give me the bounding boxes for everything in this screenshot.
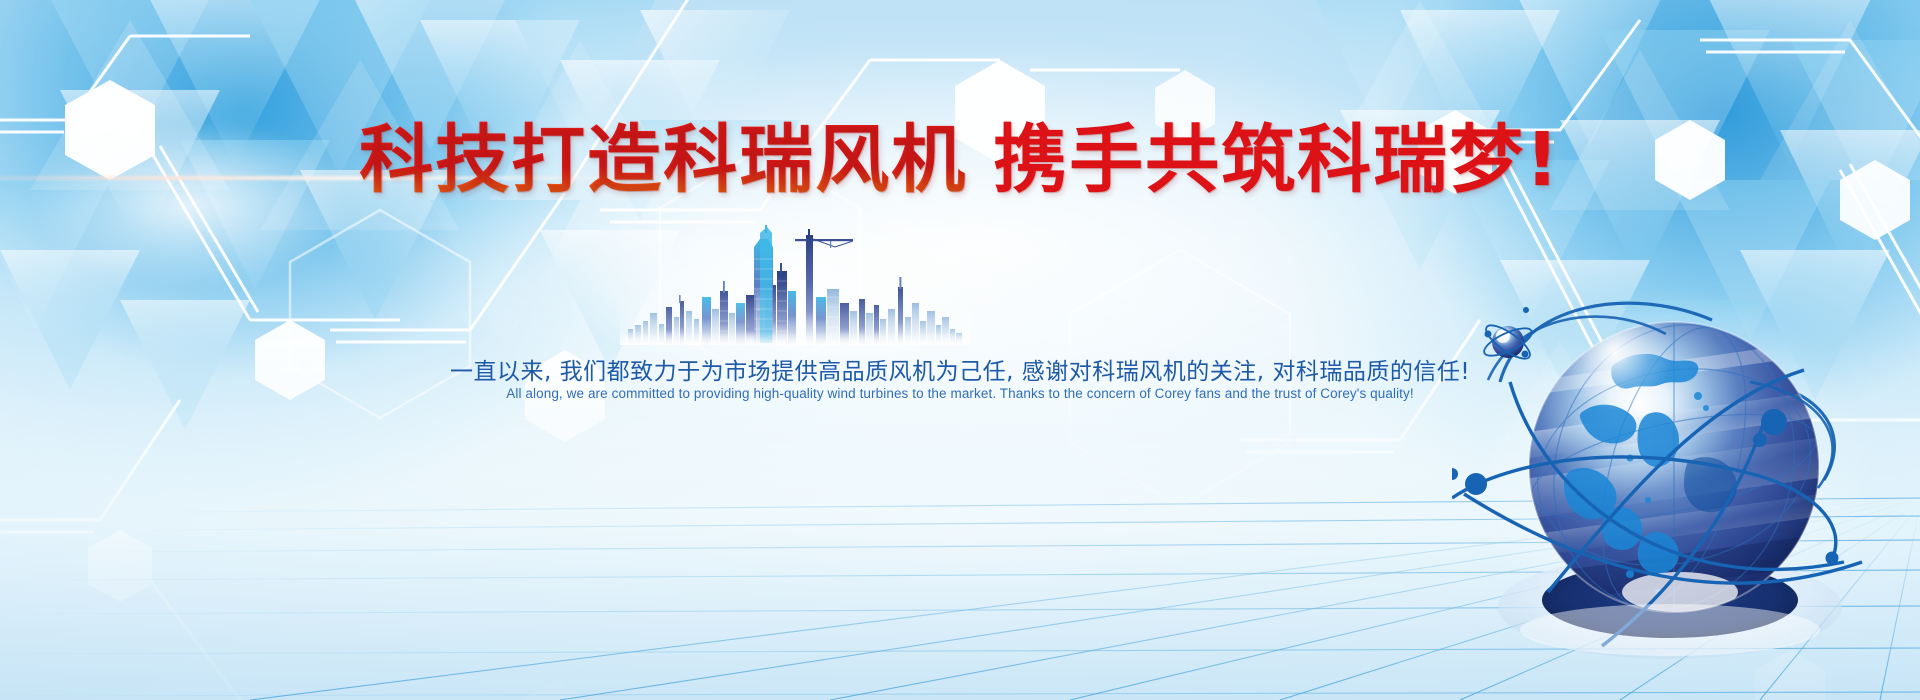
- globe-network-illustration: [1452, 262, 1892, 682]
- banner-headline: 科技打造科瑞风机携手共筑科瑞梦!: [0, 118, 1920, 202]
- hero-banner: 科技打造科瑞风机携手共筑科瑞梦!: [0, 0, 1920, 700]
- city-skyline-illustration: [620, 225, 970, 345]
- headline-part-1: 科技打造科瑞风机: [359, 117, 967, 203]
- headline-part-2: 携手共筑科瑞梦!: [993, 117, 1561, 203]
